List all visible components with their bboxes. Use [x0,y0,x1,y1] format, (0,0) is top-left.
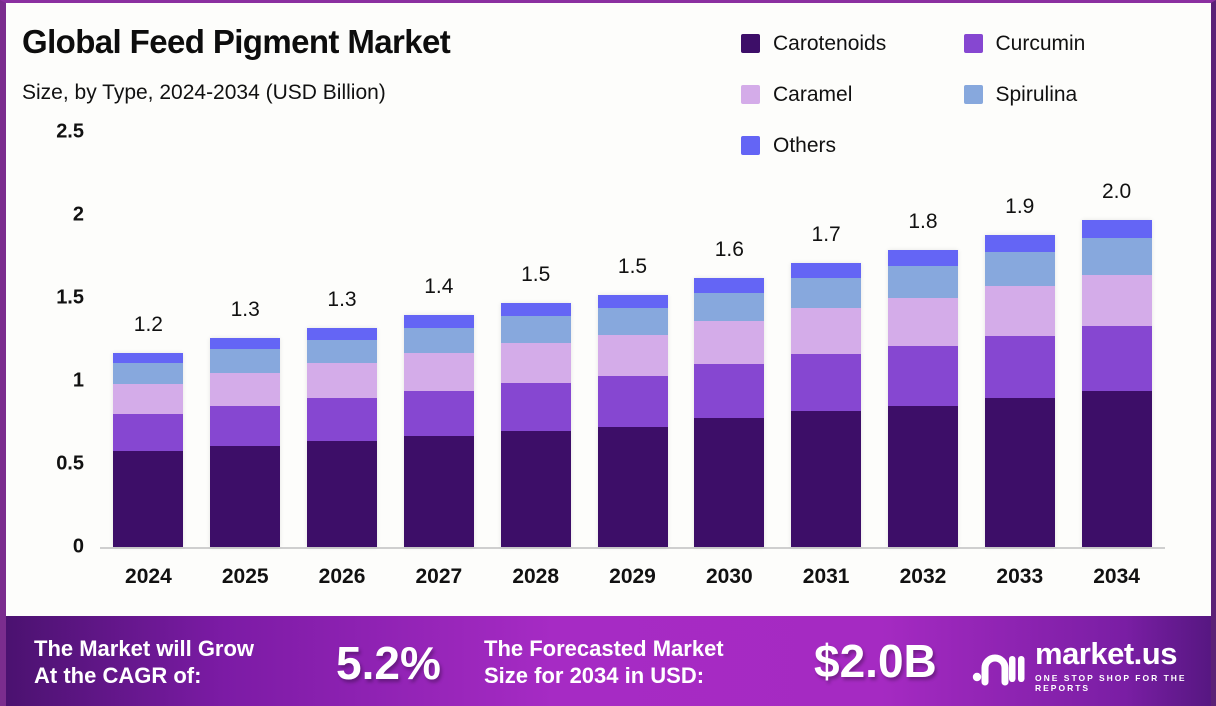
signal-bars-icon [971,644,1025,688]
bar-segment-carotenoids[interactable] [210,446,280,547]
bar-segment-caramel[interactable] [985,286,1055,336]
market-us-logo[interactable]: market.us ONE STOP SHOP FOR THE REPORTS [971,638,1216,693]
bar-segment-caramel[interactable] [791,308,861,354]
bar-segment-curcumin[interactable] [1082,326,1152,391]
bar-segment-carotenoids[interactable] [791,411,861,547]
bar-group-2026[interactable]: 1.32026 [307,3,377,603]
cagr-caption-line1: The Market will Grow [34,636,254,661]
bar-segment-caramel[interactable] [210,373,280,406]
forecast-caption-line1: The Forecasted Market [484,636,724,661]
bar-segment-spirulina[interactable] [598,308,668,335]
stacked-bar[interactable] [501,303,571,547]
stacked-bar[interactable] [985,235,1055,547]
bar-segment-carotenoids[interactable] [888,406,958,547]
bar-segment-spirulina[interactable] [501,316,571,343]
logo-tagline: ONE STOP SHOP FOR THE REPORTS [1035,673,1216,693]
bar-segment-carotenoids[interactable] [1082,391,1152,547]
bar-segment-spirulina[interactable] [210,349,280,372]
bar-segment-others[interactable] [598,295,668,308]
bar-segment-others[interactable] [501,303,571,316]
bar-total-label: 1.4 [389,275,489,299]
stacked-bar[interactable] [404,315,474,547]
y-axis-tick-label: 1 [24,370,84,393]
forecast-value: $2.0B [814,634,937,688]
x-axis-tick-label: 2026 [292,565,392,589]
y-axis-tick-label: 0.5 [24,453,84,476]
bar-total-label: 1.3 [292,288,392,312]
bar-group-2030[interactable]: 1.62030 [694,3,764,603]
bar-segment-carotenoids[interactable] [307,441,377,547]
bar-segment-caramel[interactable] [113,384,183,414]
bar-segment-caramel[interactable] [598,335,668,377]
forecast-caption: The Forecasted Market Size for 2034 in U… [484,636,724,690]
bar-group-2033[interactable]: 1.92033 [985,3,1055,603]
logo-text-block: market.us ONE STOP SHOP FOR THE REPORTS [1035,638,1216,693]
y-axis-tick-label: 0 [24,536,84,559]
bar-total-label: 2.0 [1067,180,1167,204]
bar-segment-curcumin[interactable] [598,376,668,427]
x-axis-tick-label: 2033 [970,565,1070,589]
x-axis-tick-label: 2034 [1067,565,1167,589]
bar-total-label: 1.8 [873,210,973,234]
logo-name: market.us [1035,638,1216,669]
bar-segment-curcumin[interactable] [210,406,280,446]
bar-segment-carotenoids[interactable] [501,431,571,547]
bar-segment-carotenoids[interactable] [404,436,474,547]
bar-segment-caramel[interactable] [694,321,764,364]
bar-segment-spirulina[interactable] [1082,238,1152,275]
bar-segment-curcumin[interactable] [113,414,183,451]
x-axis-tick-label: 2025 [195,565,295,589]
cagr-value: 5.2% [336,636,441,690]
bar-segment-carotenoids[interactable] [694,418,764,547]
x-axis-tick-label: 2032 [873,565,973,589]
x-axis-tick-label: 2024 [98,565,198,589]
bar-segment-spirulina[interactable] [113,363,183,385]
bar-segment-carotenoids[interactable] [113,451,183,547]
bar-segment-curcumin[interactable] [694,364,764,417]
bar-segment-caramel[interactable] [307,363,377,398]
bar-segment-others[interactable] [985,235,1055,252]
bar-series-container: 1.220241.320251.320261.420271.520281.520… [100,3,1165,603]
cagr-caption-line2: At the CAGR of: [34,663,201,688]
bar-total-label: 1.6 [679,238,779,262]
chart-plot-area: 00.511.522.5 1.220241.320251.320261.4202… [6,3,1216,603]
bar-segment-curcumin[interactable] [501,383,571,431]
bar-group-2034[interactable]: 2.02034 [1082,3,1152,603]
y-axis-tick-label: 2 [24,204,84,227]
x-axis-tick-label: 2029 [583,565,683,589]
bar-segment-spirulina[interactable] [985,252,1055,287]
bar-segment-spirulina[interactable] [888,266,958,298]
bar-total-label: 1.9 [970,195,1070,219]
bar-group-2031[interactable]: 1.72031 [791,3,861,603]
footer-banner: The Market will Grow At the CAGR of: 5.2… [6,616,1216,706]
stacked-bar[interactable] [307,328,377,547]
bar-total-label: 1.5 [583,255,683,279]
bar-segment-others[interactable] [210,338,280,350]
stacked-bar[interactable] [210,338,280,547]
x-axis-tick-label: 2027 [389,565,489,589]
x-axis-tick-label: 2028 [486,565,586,589]
bar-segment-others[interactable] [888,250,958,267]
bar-group-2028[interactable]: 1.52028 [501,3,571,603]
stacked-bar[interactable] [888,250,958,547]
bar-total-label: 1.7 [776,223,876,247]
bar-total-label: 1.5 [486,263,586,287]
bar-group-2025[interactable]: 1.32025 [210,3,280,603]
y-axis-tick-label: 2.5 [24,121,84,144]
bar-segment-caramel[interactable] [888,298,958,346]
bar-segment-others[interactable] [694,278,764,293]
stacked-bar[interactable] [113,353,183,547]
bar-segment-caramel[interactable] [1082,275,1152,326]
stacked-bar[interactable] [694,278,764,547]
bar-segment-others[interactable] [307,328,377,340]
bar-segment-carotenoids[interactable] [985,398,1055,547]
bar-group-2029[interactable]: 1.52029 [598,3,668,603]
bar-segment-curcumin[interactable] [791,354,861,410]
bar-segment-carotenoids[interactable] [598,427,668,547]
stacked-bar[interactable] [791,263,861,547]
stacked-bar[interactable] [598,295,668,547]
x-axis-tick-label: 2030 [679,565,779,589]
bar-segment-curcumin[interactable] [985,336,1055,397]
bar-segment-spirulina[interactable] [404,328,474,353]
x-axis-tick-label: 2031 [776,565,876,589]
bar-segment-caramel[interactable] [404,353,474,391]
forecast-caption-line2: Size for 2034 in USD: [484,663,704,688]
bar-total-label: 1.3 [195,298,295,322]
bar-segment-others[interactable] [113,353,183,363]
bar-segment-spirulina[interactable] [307,340,377,363]
y-axis-tick-label: 1.5 [24,287,84,310]
bar-segment-curcumin[interactable] [404,391,474,436]
bar-segment-caramel[interactable] [501,343,571,383]
bar-group-2032[interactable]: 1.82032 [888,3,958,603]
bar-group-2027[interactable]: 1.42027 [404,3,474,603]
bar-segment-curcumin[interactable] [307,398,377,441]
bar-segment-spirulina[interactable] [694,293,764,321]
bar-segment-spirulina[interactable] [791,278,861,308]
stacked-bar[interactable] [1082,220,1152,547]
infographic-page: Global Feed Pigment Market Size, by Type… [0,0,1216,706]
bar-segment-curcumin[interactable] [888,346,958,406]
cagr-caption: The Market will Grow At the CAGR of: [34,636,254,690]
bar-segment-others[interactable] [1082,220,1152,238]
bar-group-2024[interactable]: 1.22024 [113,3,183,603]
bar-total-label: 1.2 [98,313,198,337]
bar-segment-others[interactable] [404,315,474,328]
bar-segment-others[interactable] [791,263,861,278]
